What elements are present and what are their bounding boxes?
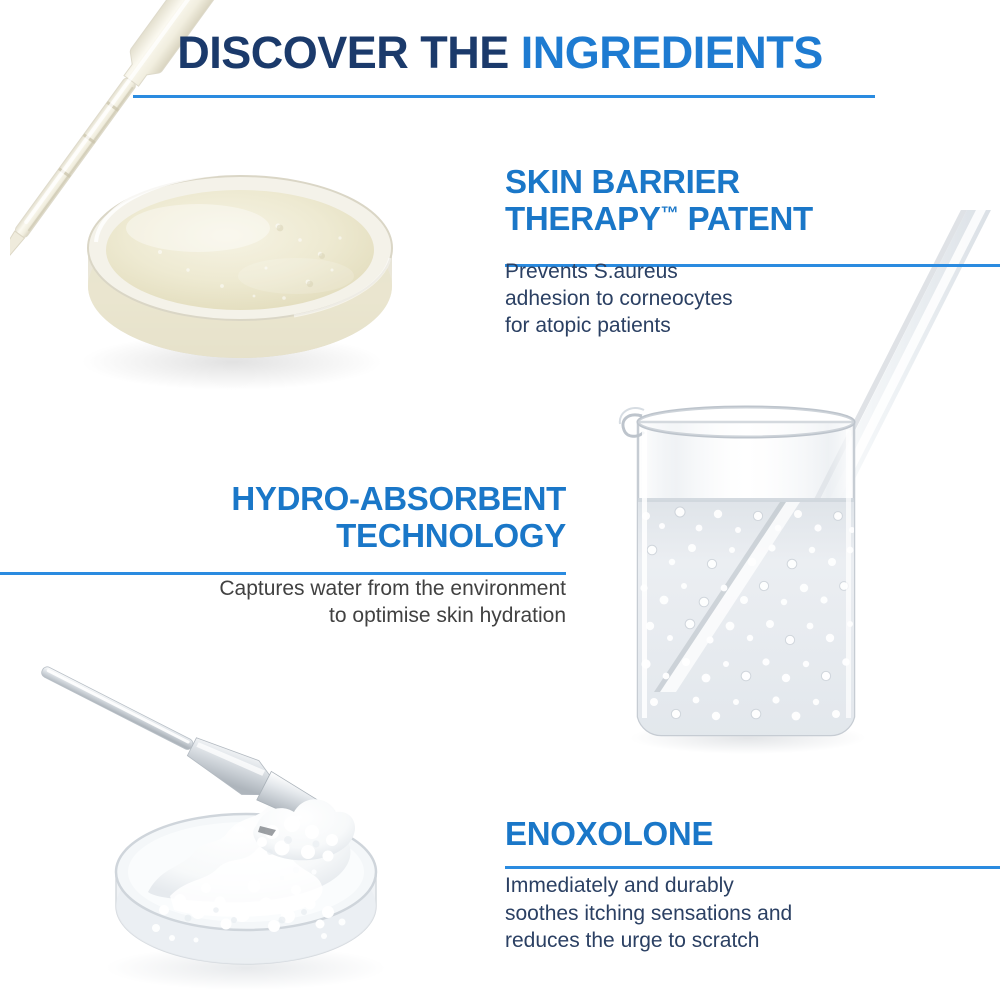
body-line-1: Immediately and durably bbox=[505, 872, 905, 899]
trademark-symbol: ™ bbox=[661, 203, 679, 223]
heading-line-2-main: THERAPY bbox=[505, 200, 661, 237]
header-divider bbox=[133, 95, 875, 98]
section-body-enoxolone: Immediately and durably soothes itching … bbox=[505, 872, 905, 954]
section-heading-enoxolone: ENOXOLONE bbox=[505, 815, 905, 852]
heading-line-1: SKIN BARRIER bbox=[505, 163, 905, 200]
section-heading-hydro-absorbent: HYDRO-ABSORBENT TECHNOLOGY bbox=[60, 480, 566, 555]
body-line-3: for atopic patients bbox=[505, 312, 905, 339]
body-line-2: to optimise skin hydration bbox=[60, 602, 566, 629]
section-hydro-absorbent-technology: HYDRO-ABSORBENT TECHNOLOGY Captures wate… bbox=[60, 480, 566, 629]
heading-line-2: TECHNOLOGY bbox=[60, 517, 566, 554]
section-body-hydro-absorbent: Captures water from the environment to o… bbox=[60, 575, 566, 630]
page-title-part-two: INGREDIENTS bbox=[521, 27, 823, 78]
heading-line-1: HYDRO-ABSORBENT bbox=[60, 480, 566, 517]
body-line-2: soothes itching sensations and bbox=[505, 900, 905, 927]
body-line-1: Prevents S.aureus bbox=[505, 258, 905, 285]
page-title-part-one: DISCOVER THE bbox=[177, 27, 521, 78]
body-line-1: Captures water from the environment bbox=[60, 575, 566, 602]
heading-line-2: THERAPY™ PATENT bbox=[505, 200, 905, 237]
section-enoxolone: ENOXOLONE Immediately and durably soothe… bbox=[505, 815, 905, 954]
heading-line-1: ENOXOLONE bbox=[505, 815, 905, 852]
ingredients-infographic: DISCOVER THE INGREDIENTS SKIN BARRIER TH… bbox=[0, 0, 1000, 1000]
section-heading-skin-barrier: SKIN BARRIER THERAPY™ PATENT bbox=[505, 163, 905, 238]
page-title: DISCOVER THE INGREDIENTS bbox=[0, 30, 1000, 75]
heading-line-2-tail: PATENT bbox=[679, 200, 813, 237]
section-body-skin-barrier: Prevents S.aureus adhesion to corneocyte… bbox=[505, 258, 905, 340]
body-line-3: reduces the urge to scratch bbox=[505, 927, 905, 954]
section-skin-barrier-therapy: SKIN BARRIER THERAPY™ PATENT Prevents S.… bbox=[505, 163, 905, 339]
powder-dish-image bbox=[20, 620, 460, 1000]
body-line-2: adhesion to corneocytes bbox=[505, 285, 905, 312]
